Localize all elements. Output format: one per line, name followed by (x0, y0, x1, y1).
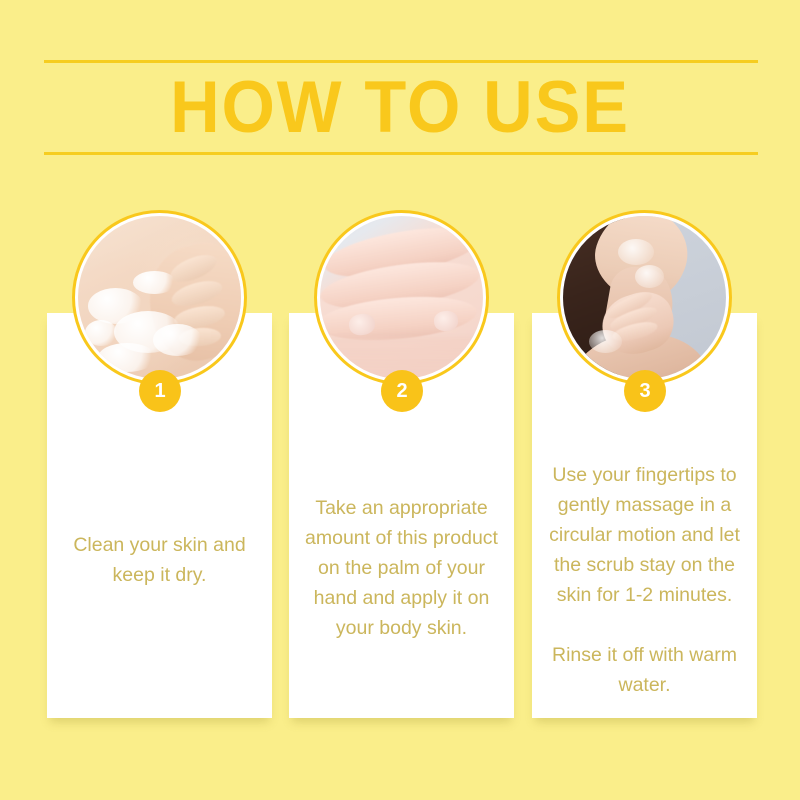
steps-container: 1 Clean your skin and keep it dry. 2 Tak… (0, 0, 800, 800)
soapy-skin-image (78, 216, 241, 379)
step-paragraph: Rinse it off with warm water. (538, 640, 751, 700)
foam-shape (153, 324, 202, 357)
water-highlight (589, 330, 622, 353)
step-photo-1 (72, 210, 247, 385)
foam-shape (98, 343, 157, 372)
foam-shape (133, 271, 175, 294)
foam-shape (85, 320, 118, 346)
step-number-badge-1: 1 (139, 370, 181, 412)
water-highlight (635, 265, 664, 288)
woman-shower-image (563, 216, 726, 379)
step-paragraph: Clean your skin and keep it dry. (53, 530, 266, 590)
step-text-3: Use your fingertips to gently massage in… (538, 460, 751, 700)
hand-applying-image (320, 216, 483, 379)
fingernail-shape (433, 310, 459, 331)
step-paragraph: Use your fingertips to gently massage in… (538, 460, 751, 610)
water-highlight (618, 239, 654, 265)
step-number-badge-3: 3 (624, 370, 666, 412)
step-photo-2 (314, 210, 489, 385)
step-text-2: Take an appropriate amount of this produ… (295, 493, 508, 643)
step-text-1: Clean your skin and keep it dry. (53, 530, 266, 590)
step-photo-3 (557, 210, 732, 385)
step-number-badge-2: 2 (381, 370, 423, 412)
step-paragraph: Take an appropriate amount of this produ… (295, 493, 508, 643)
